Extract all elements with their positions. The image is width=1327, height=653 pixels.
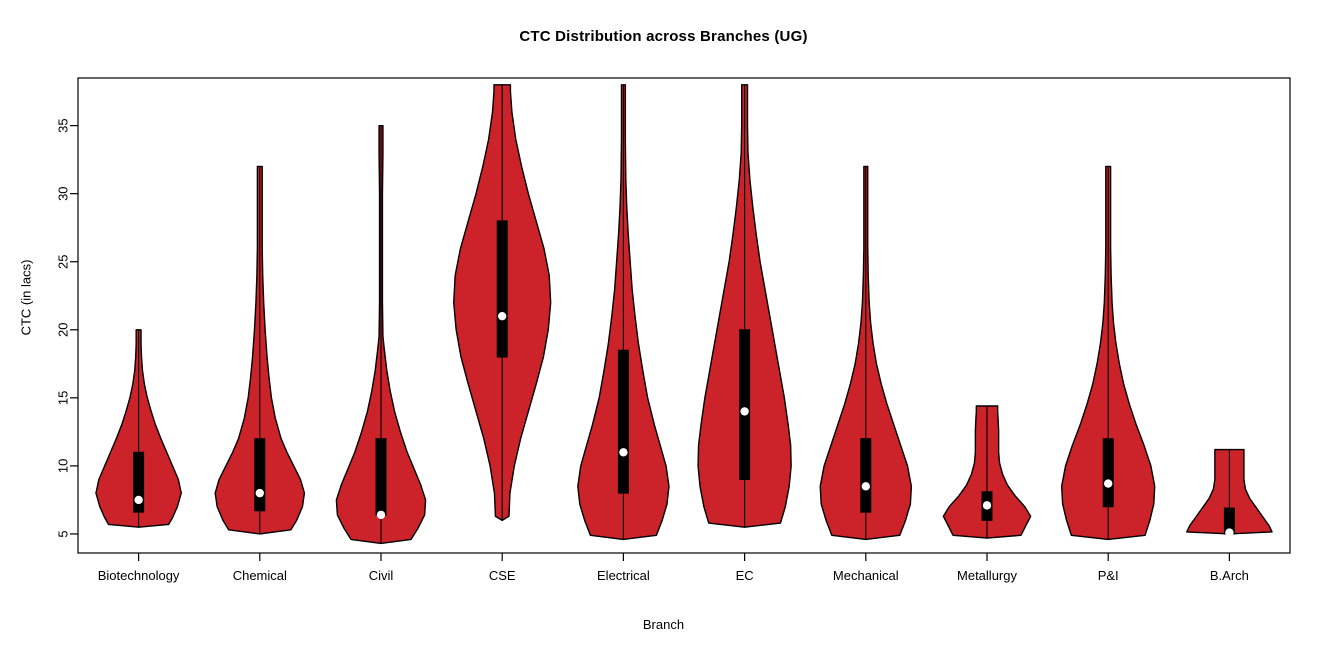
median-marker xyxy=(377,511,385,519)
x-tick-label: Mechanical xyxy=(833,568,899,583)
violin-civil xyxy=(336,126,425,544)
x-tick-label: P&I xyxy=(1098,568,1119,583)
median-marker xyxy=(134,496,142,504)
median-marker xyxy=(498,312,506,320)
violin-chemical xyxy=(215,166,304,533)
iqr-box xyxy=(861,439,871,512)
x-tick-label: B.Arch xyxy=(1210,568,1249,583)
violin-metallurgy xyxy=(943,406,1030,538)
plot-area: 5101520253035BiotechnologyChemicalCivilC… xyxy=(0,0,1327,653)
y-tick-label: 25 xyxy=(55,255,70,269)
iqr-box xyxy=(376,439,386,515)
iqr-box xyxy=(497,221,507,357)
iqr-box xyxy=(255,439,265,511)
y-tick-label: 20 xyxy=(55,323,70,337)
violin-biotechnology xyxy=(96,330,181,527)
x-tick-label: Biotechnology xyxy=(98,568,180,583)
x-tick-label: Metallurgy xyxy=(957,568,1017,583)
violin-p-i xyxy=(1062,166,1155,539)
iqr-box xyxy=(1103,439,1113,507)
median-marker xyxy=(740,407,748,415)
median-marker xyxy=(619,448,627,456)
x-tick-label: Electrical xyxy=(597,568,650,583)
x-tick-label: EC xyxy=(736,568,754,583)
y-tick-label: 15 xyxy=(55,391,70,405)
y-tick-label: 10 xyxy=(55,459,70,473)
violin-electrical xyxy=(578,85,669,540)
median-marker xyxy=(1225,528,1233,536)
y-tick-label: 5 xyxy=(55,530,70,537)
x-tick-label: CSE xyxy=(489,568,516,583)
median-marker xyxy=(1104,479,1112,487)
y-tick-label: 35 xyxy=(55,118,70,132)
violin-mechanical xyxy=(820,166,911,539)
median-marker xyxy=(862,482,870,490)
x-tick-label: Civil xyxy=(369,568,394,583)
y-tick-label: 30 xyxy=(55,186,70,200)
violin-cse xyxy=(454,85,551,521)
x-tick-label: Chemical xyxy=(233,568,287,583)
median-marker xyxy=(256,489,264,497)
iqr-box xyxy=(740,330,750,480)
violin-ec xyxy=(698,85,791,527)
iqr-box xyxy=(618,350,628,493)
violin-b-arch xyxy=(1187,450,1272,537)
violin-chart: CTC Distribution across Branches (UG) CT… xyxy=(0,0,1327,653)
median-marker xyxy=(983,501,991,509)
